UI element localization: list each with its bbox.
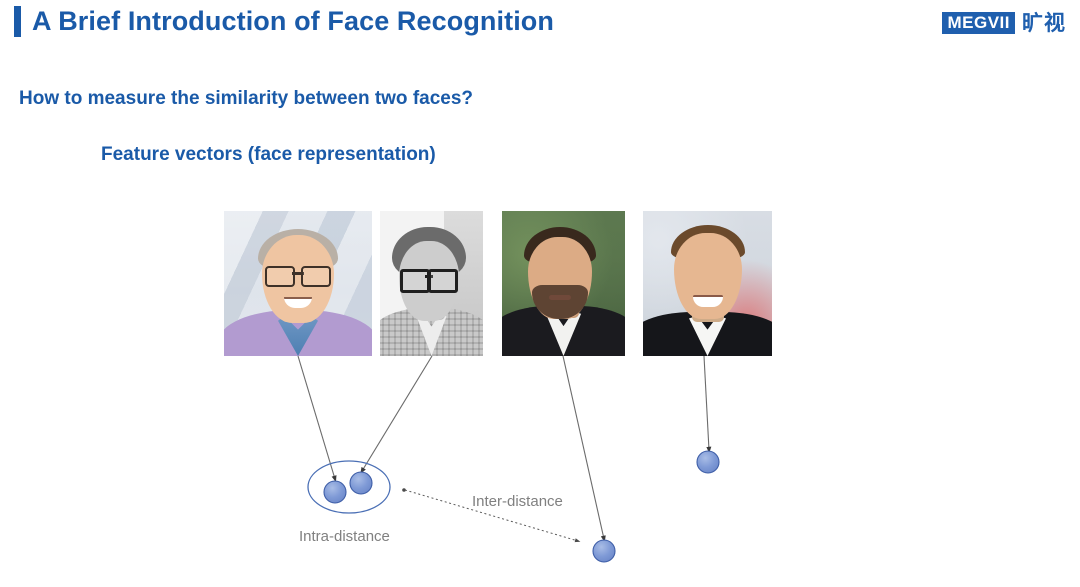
connector-lines	[298, 356, 709, 539]
jackman-point	[593, 540, 615, 562]
intra-distance-label: Intra-distance	[299, 528, 390, 545]
logo-wordmark: MEGVII	[942, 12, 1015, 34]
subheading-question: How to measure the similarity between tw…	[19, 88, 473, 110]
cruise-point	[697, 451, 719, 473]
inter-distance-label: Inter-distance	[472, 493, 563, 510]
page-title: A Brief Introduction of Face Recognition	[32, 6, 554, 37]
photo-hugh-jackman	[502, 211, 625, 356]
connector-jackman	[563, 356, 604, 539]
photo-bill-gates-modern	[224, 211, 372, 356]
title-accent-bar	[14, 6, 21, 37]
gates-young-point	[350, 472, 372, 494]
connector-gates-young	[362, 356, 432, 471]
connector-cruise	[704, 356, 709, 450]
photo-tom-cruise	[643, 211, 772, 356]
megvii-logo: MEGVII 旷视	[942, 12, 1066, 34]
gates-modern-point	[324, 481, 346, 503]
logo-chinese-name: 旷视	[1022, 13, 1066, 34]
connector-gates-modern	[298, 356, 335, 479]
photo-bill-gates-young	[380, 211, 483, 356]
intra-cluster-ellipse	[308, 461, 390, 513]
subheading-feature-vectors: Feature vectors (face representation)	[101, 144, 436, 166]
slide-canvas: A Brief Introduction of Face Recognition…	[0, 0, 1080, 587]
slide-title-row: A Brief Introduction of Face Recognition	[0, 6, 554, 37]
